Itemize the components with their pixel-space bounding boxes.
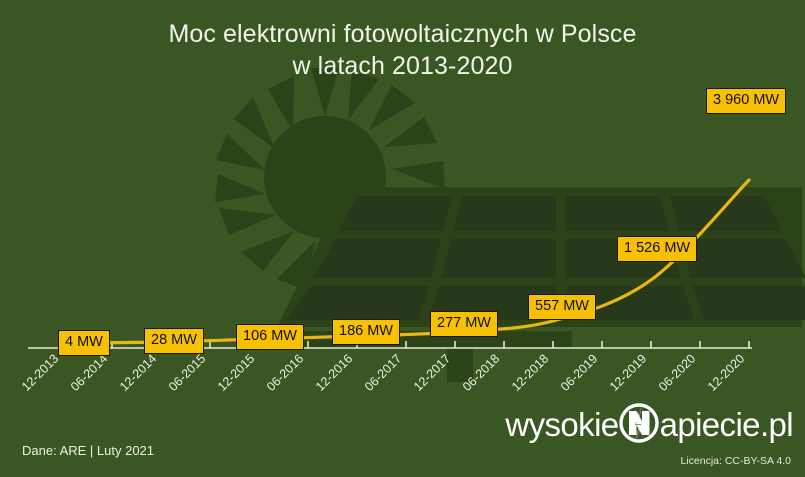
data-label: 277 MW [430,311,498,337]
series-line-pv-capacity [63,180,749,343]
data-label: 28 MW [144,328,204,354]
data-label: 1 526 MW [617,236,697,262]
data-label: 186 MW [332,319,400,345]
chart-infographic: Moc elektrowni fotowoltaicznych w Polsce… [0,0,805,477]
data-label: 557 MW [528,294,596,320]
logo-text-right: apiecie.pl [660,408,793,441]
source-note: Dane: ARE | Luty 2021 [22,443,154,458]
license-note: Licencja: CC-BY-SA 4.0 [680,455,791,467]
data-label: 3 960 MW [706,88,786,114]
lightning-n-icon [616,401,662,447]
data-label: 106 MW [236,324,304,350]
data-label: 4 MW [58,330,110,356]
brand-logo[interactable]: wysokie apiecie.pl [505,398,793,450]
logo-text-left: wysokie [505,408,618,441]
